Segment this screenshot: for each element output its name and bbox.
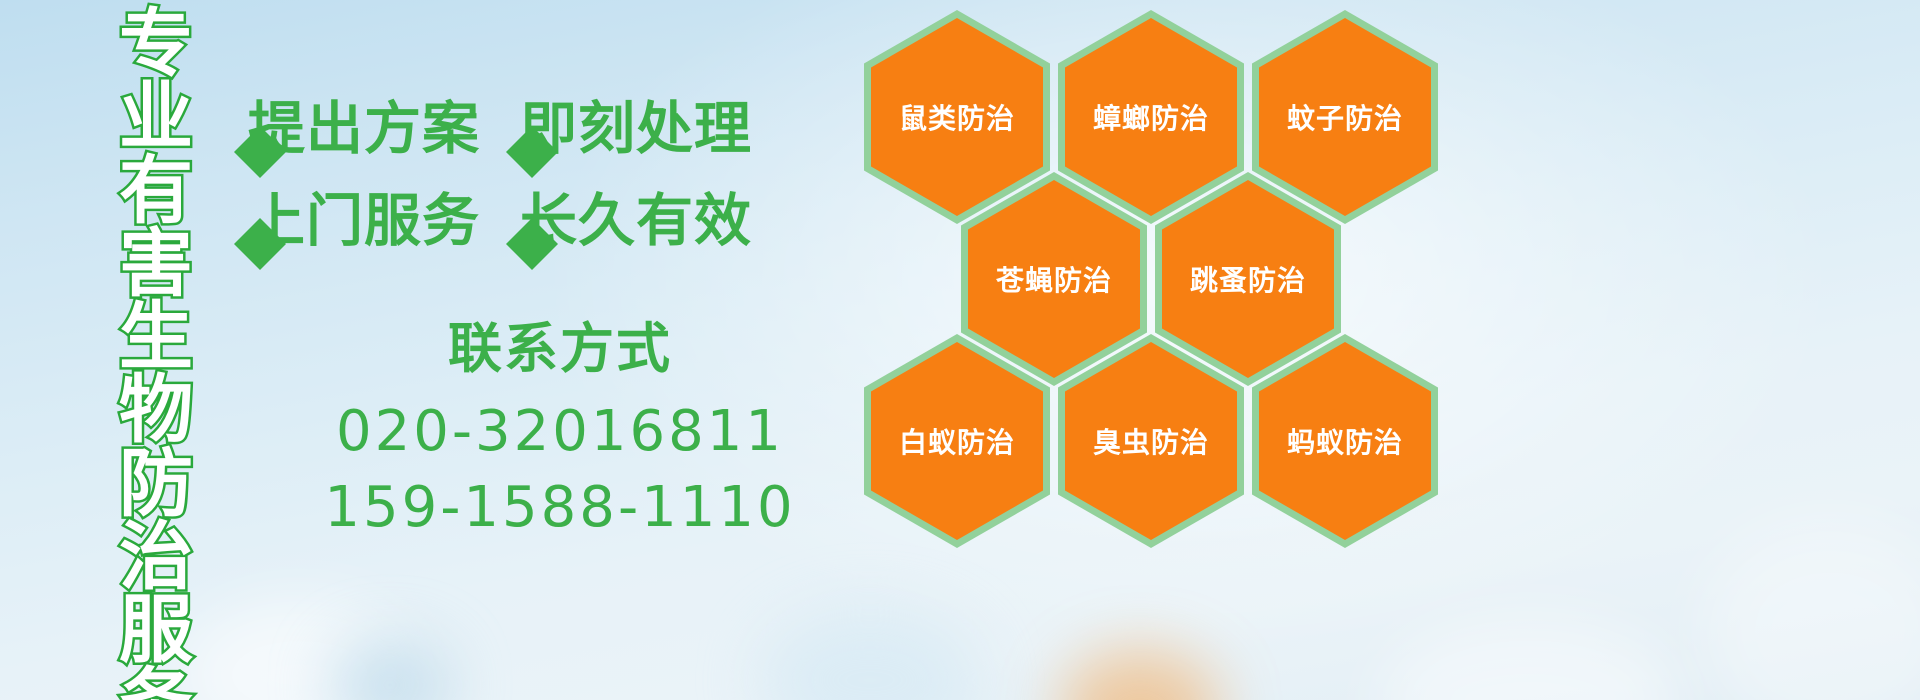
hex-inner: 苍蝇防治 [968, 180, 1140, 378]
contact-phone-mobile[interactable]: 159-1588-1110 [300, 470, 820, 546]
vertical-headline-char: 防 [119, 448, 193, 521]
hex-label: 蚂蚁防治 [1287, 421, 1403, 461]
hex-inner: 跳蚤防治 [1162, 180, 1334, 378]
feature-label: 长久有效 [520, 175, 752, 257]
vertical-headline-char: 有 [119, 155, 193, 228]
contact-block: 联系方式 020-32016811 159-1588-1110 [300, 318, 820, 545]
hex-label: 鼠类防治 [899, 97, 1015, 137]
vertical-headline: 专 业 有 害 生 物 防 治 服 务 [108, 8, 204, 700]
feature-row: 上门服务 长久有效 [232, 170, 872, 262]
vertical-headline-char: 专 [119, 8, 193, 81]
background-blob [1380, 620, 1680, 700]
feature-item-propose-plan[interactable]: 提出方案 [232, 83, 480, 165]
vertical-headline-char: 物 [119, 374, 193, 447]
contact-heading: 联系方式 [300, 318, 820, 380]
background-blob [180, 600, 420, 700]
background-blob [1060, 650, 1220, 700]
feature-item-long-lasting[interactable]: 长久有效 [504, 175, 752, 257]
hex-inner: 蟑螂防治 [1065, 18, 1237, 216]
background-blob [1700, 520, 1920, 700]
hex-inner: 蚊子防治 [1259, 18, 1431, 216]
vertical-headline-char: 生 [119, 301, 193, 374]
hex-label: 白蚁防治 [899, 421, 1015, 461]
feature-label: 即刻处理 [520, 83, 752, 165]
hex-inner: 臭虫防治 [1065, 342, 1237, 540]
feature-row: 提出方案 即刻处理 [232, 78, 872, 170]
hex-label: 臭虫防治 [1093, 421, 1209, 461]
feature-label: 上门服务 [248, 175, 480, 257]
background-blob [330, 640, 450, 700]
background-blob [760, 610, 980, 700]
feature-label: 提出方案 [248, 83, 480, 165]
vertical-headline-char: 治 [119, 521, 193, 594]
hex-inner: 鼠类防治 [871, 18, 1043, 216]
service-hex-grid: 鼠类防治 蟑螂防治 蚊子防治 苍蝇防治 跳蚤防治 白蚁防治 [862, 4, 1462, 564]
vertical-headline-char: 害 [119, 228, 193, 301]
hex-inner: 白蚁防治 [871, 342, 1043, 540]
feature-list: 提出方案 即刻处理 上门服务 长久有效 [232, 78, 872, 262]
hex-inner: 蚂蚁防治 [1259, 342, 1431, 540]
feature-item-immediate-handling[interactable]: 即刻处理 [504, 83, 752, 165]
hex-label: 蚊子防治 [1287, 97, 1403, 137]
hex-label: 蟑螂防治 [1093, 97, 1209, 137]
vertical-headline-char: 服 [119, 594, 193, 667]
hex-label: 跳蚤防治 [1190, 259, 1306, 299]
contact-phone-landline[interactable]: 020-32016811 [300, 394, 820, 470]
hex-label: 苍蝇防治 [996, 259, 1112, 299]
vertical-headline-char: 业 [119, 81, 193, 154]
vertical-headline-char: 务 [119, 667, 193, 700]
feature-item-onsite-service[interactable]: 上门服务 [232, 175, 480, 257]
pest-control-service-banner: 专 业 有 害 生 物 防 治 服 务 提出方案 即刻处理 [0, 0, 1920, 700]
